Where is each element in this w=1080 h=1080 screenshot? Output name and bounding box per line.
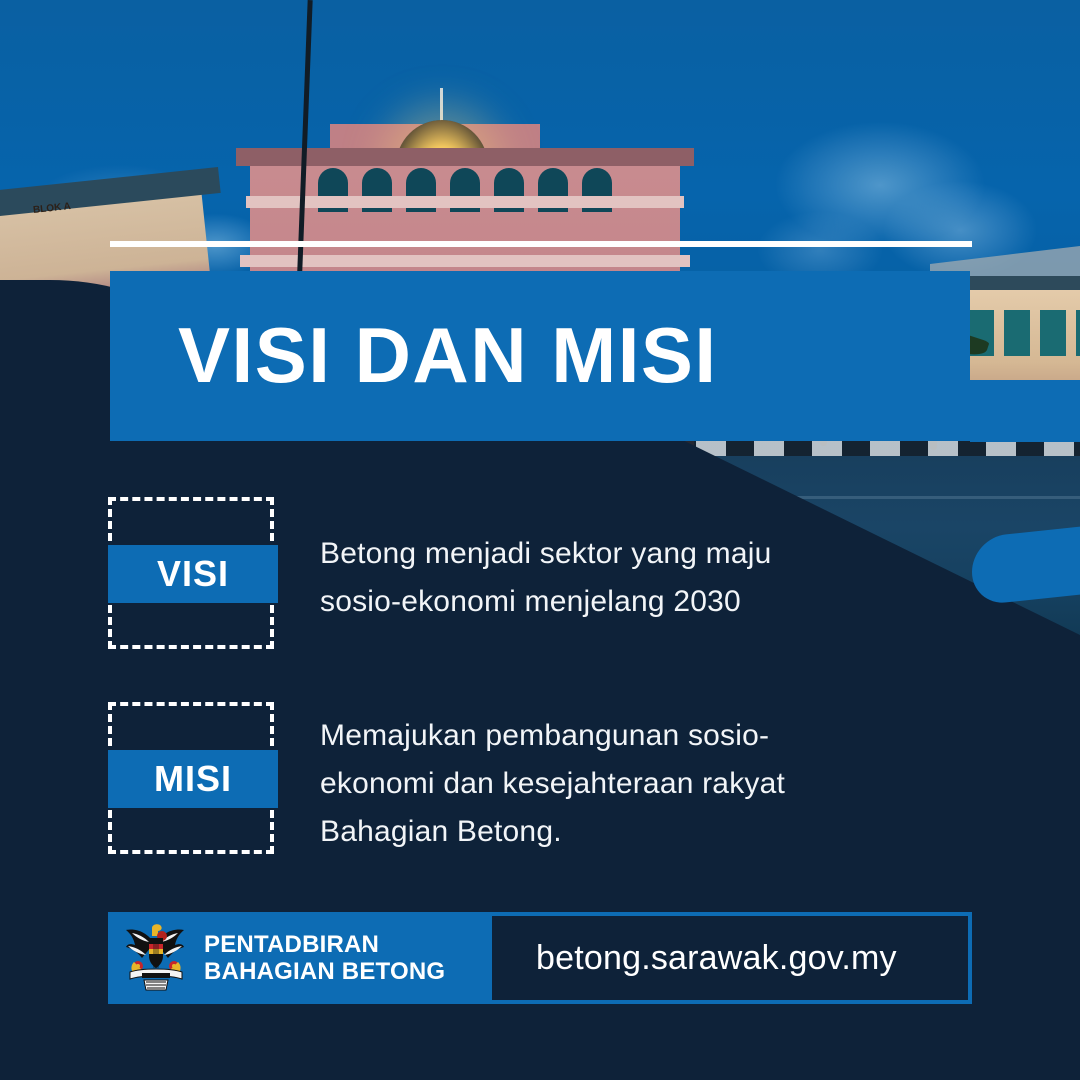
visi-tag-label: VISI [108,545,278,603]
window [1040,310,1066,356]
building-cornice-low [240,255,690,267]
window [1076,310,1080,356]
misi-badge: MISI [108,702,284,854]
misi-statement: Memajukan pembangunan sosio- ekonomi dan… [320,712,940,856]
footer-brand-block: PENTADBIRAN BAHAGIAN BETONG [108,912,488,1004]
dome-spire-icon [440,88,443,124]
window [1004,310,1030,356]
footer-brand-name: PENTADBIRAN BAHAGIAN BETONG [204,931,445,985]
page-title: VISI DAN MISI [178,300,938,410]
footer-website-url[interactable]: betong.sarawak.gov.my [488,912,972,1004]
header-rule [110,241,972,247]
misi-tag-label: MISI [108,750,278,808]
visi-badge: VISI [108,497,284,649]
accent-shape-right-top [970,380,1080,442]
footer-bar: PENTADBIRAN BAHAGIAN BETONG betong.saraw… [108,912,972,1004]
building-cornice-mid [246,196,684,208]
poster-canvas: KOMPLEKS PEJABAT KERAJAAN BLOK A [0,0,1080,1080]
visi-statement: Betong menjadi sektor yang maju sosio-ek… [320,530,940,626]
sarawak-coat-of-arms-icon [122,922,190,994]
